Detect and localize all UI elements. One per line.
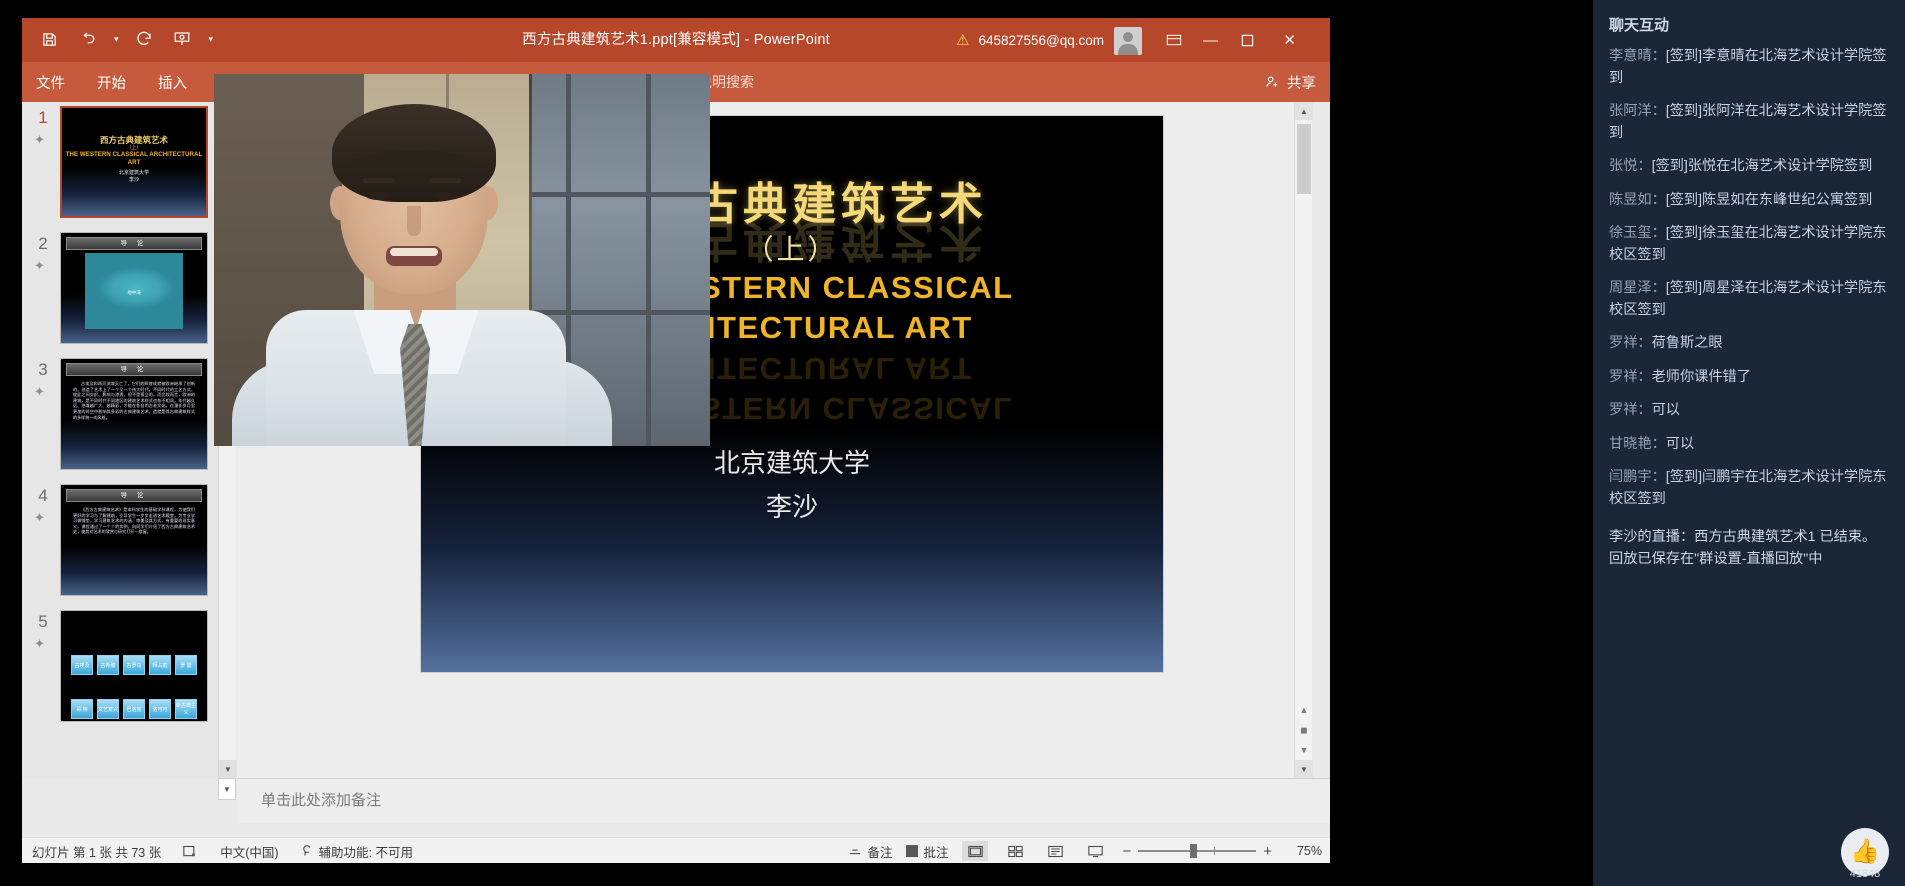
nose	[407, 206, 421, 236]
zoom-knob[interactable]	[1190, 844, 1197, 858]
slide-sorter-icon[interactable]	[1002, 841, 1028, 861]
chat-text: 老师你课件错了	[1652, 369, 1751, 385]
period-button: 古埃及	[71, 655, 93, 675]
zoom-track[interactable]	[1138, 850, 1256, 852]
animation-star-icon: ✦	[34, 132, 45, 148]
spell-check-icon[interactable]	[183, 845, 198, 858]
minimize-icon[interactable]: —	[1203, 18, 1218, 62]
accessibility-status[interactable]: 辅助功能: 不可用	[301, 842, 413, 861]
slide-thumbnail-3[interactable]: 3 ✦ 导 论 古埃及和两河流域灭亡了，它们的辉煌成就被欧洲继承了创新的。创造了…	[26, 354, 218, 480]
chat-username: 闫鹏宇：	[1609, 469, 1666, 485]
notes-pane-collapse-icon[interactable]: ▼	[218, 778, 236, 800]
window-rail	[532, 192, 710, 197]
language-indicator[interactable]: 中文(中国)	[220, 842, 278, 861]
thumb1-author: 北京建筑大学 李沙	[62, 170, 206, 184]
slide-organization: 北京建筑大学	[421, 441, 1163, 485]
teeth	[390, 248, 438, 256]
chat-message: 周星泽：[签到]周星泽在北海艺术设计学院东校区签到	[1609, 278, 1889, 321]
comments-toggle-button[interactable]: 批注	[906, 842, 948, 861]
chat-message: 罗祥：荷鲁斯之眼	[1609, 333, 1889, 355]
thumb3-header: 导 论	[66, 363, 202, 376]
chat-username: 甘晓艳：	[1609, 436, 1666, 452]
scroll-down-icon[interactable]: ▼	[1295, 760, 1313, 778]
thumb2-header: 导 论	[66, 237, 202, 250]
account-email: 645827556@qq.com	[978, 33, 1104, 48]
share-label: 共享	[1287, 72, 1316, 93]
thumb5-button-row-1: 古埃及 古希腊 古罗马 拜占庭 罗 曼	[71, 655, 197, 675]
eye-left	[366, 192, 392, 200]
normal-view-icon[interactable]	[962, 841, 988, 861]
chat-message: 甘晓艳：可以	[1609, 434, 1889, 456]
eye-right	[432, 192, 458, 200]
chat-username: 罗祥：	[1609, 369, 1652, 385]
period-button: 古罗马	[123, 655, 145, 675]
chat-username: 周星泽：	[1609, 280, 1666, 296]
chat-message: 张阿洋：[签到]张阿洋在北海艺术设计学院签到	[1609, 101, 1889, 144]
zoom-center-tick	[1214, 847, 1215, 855]
powerpoint-window: ▾ ▾ 西方古典建筑艺术1.ppt[兼容模式] - PowerPoint ⚠ 6…	[22, 18, 1330, 863]
slide-scrollbar[interactable]: ▲ ▲ ◼ ▼ ▼	[1294, 102, 1312, 778]
account-info[interactable]: ⚠ 645827556@qq.com	[956, 18, 1104, 62]
notes-pane[interactable]: 单击此处添加备注	[237, 778, 1330, 823]
scroll-down-icon[interactable]: ▼	[219, 760, 237, 778]
window-rail	[532, 310, 710, 315]
thumbnail-number: 1	[32, 108, 54, 128]
thumb4-header: 导 论	[66, 489, 202, 502]
chat-panel-title: 聊天互动	[1609, 14, 1889, 35]
period-button: 巴洛克	[123, 699, 145, 719]
slideshow-icon[interactable]	[1082, 841, 1108, 861]
zoom-level[interactable]: 75%	[1286, 844, 1322, 858]
animation-star-icon: ✦	[34, 384, 45, 400]
thumb1-title-en: THE WESTERN CLASSICAL ARCHITECTURAL ART	[62, 151, 206, 167]
chat-text: 荷鲁斯之眼	[1652, 335, 1723, 351]
status-bar: 幻灯片 第 1 张 共 73 张 中文(中国) 辅助功能: 不可用	[22, 837, 1330, 863]
chat-username: 张悦：	[1609, 158, 1652, 174]
tab-insert[interactable]: 插入	[158, 72, 187, 93]
thumbnail-number: 4	[32, 486, 54, 506]
thumb5-button-row-2: 哥 特 文艺复兴 巴洛克 洛可可 新古典主义	[71, 699, 197, 719]
tab-file[interactable]: 文件	[36, 72, 65, 93]
eyebrow-left	[363, 178, 395, 183]
chat-username: 张阿洋：	[1609, 103, 1666, 119]
period-button: 罗 曼	[175, 655, 197, 675]
animation-star-icon: ✦	[34, 636, 45, 652]
animation-star-icon: ✦	[34, 510, 45, 526]
slide-author-block: 北京建筑大学 李沙	[421, 441, 1163, 529]
slide-thumbnail-1[interactable]: 1 ✦ 西方古典建筑艺术 （上） THE WESTERN CLASSICAL A…	[26, 102, 218, 228]
avatar[interactable]	[1114, 27, 1142, 55]
chat-username: 陈昱如：	[1609, 192, 1666, 208]
thumbnail-number: 2	[32, 234, 54, 254]
period-button: 古希腊	[97, 655, 119, 675]
period-button: 洛可可	[149, 699, 171, 719]
previous-slide-icon[interactable]: ▲	[1296, 702, 1312, 718]
chat-text: 可以	[1666, 436, 1694, 452]
slide-author: 李沙	[421, 485, 1163, 529]
thumbnail-number: 5	[32, 612, 54, 632]
thumb1-subtitle: （上）	[62, 144, 206, 151]
status-left-group: 幻灯片 第 1 张 共 73 张 中文(中国) 辅助功能: 不可用	[32, 838, 413, 863]
select-browse-object-icon[interactable]: ◼	[1296, 722, 1312, 738]
ribbon-tabs: 文件 开始 插入 设	[36, 62, 234, 102]
period-button: 拜占庭	[149, 655, 171, 675]
slide-thumbnail-pane[interactable]: 1 ✦ 西方古典建筑艺术 （上） THE WESTERN CLASSICAL A…	[22, 102, 218, 778]
thumbnail-number: 3	[32, 360, 54, 380]
eyebrow-right	[429, 178, 461, 183]
chat-message: 闫鹏宇：[签到]闫鹏宇在北海艺术设计学院东校区签到	[1609, 467, 1889, 510]
thumbnail-preview: 古埃及 古希腊 古罗马 拜占庭 罗 曼 哥 特 文艺复兴 巴洛克 洛可可 新古典…	[60, 610, 208, 722]
presenter-webcam-overlay[interactable]	[214, 74, 710, 446]
chat-username: 徐玉玺：	[1609, 225, 1666, 241]
chat-message: 罗祥：老师你课件错了	[1609, 367, 1889, 389]
like-count: 41848	[1841, 868, 1889, 880]
animation-star-icon: ✦	[34, 258, 45, 274]
chat-message: 徐玉玺：[签到]徐玉玺在北海艺术设计学院东校区签到	[1609, 223, 1889, 266]
screen-root: ▾ ▾ 西方古典建筑艺术1.ppt[兼容模式] - PowerPoint ⚠ 6…	[0, 0, 1905, 886]
chat-username: 李意晴：	[1609, 48, 1666, 64]
thumbnail-preview: 西方古典建筑艺术 （上） THE WESTERN CLASSICAL ARCHI…	[60, 106, 208, 218]
notes-toggle-button[interactable]: 备注	[848, 842, 892, 861]
thumbnail-preview: 导 论 地中海	[60, 232, 208, 344]
chat-system-message: 李沙的直播：西方古典建筑艺术1 已结束。回放已保存在"群设置-直播回放"中	[1609, 526, 1889, 570]
status-right-group: 备注 批注	[848, 838, 1322, 863]
reading-view-icon[interactable]	[1042, 841, 1068, 861]
close-icon[interactable]: ✕	[1283, 18, 1296, 62]
slide-thumbnail-4[interactable]: 4 ✦ 导 论 《西方古典建筑艺术》是本科学生的基础学科课程，为使我们更好的学习…	[26, 480, 218, 606]
chat-message: 李意晴：[签到]李意晴在北海艺术设计学院签到	[1609, 46, 1889, 89]
thumb3-body: 古埃及和两河流域灭亡了，它们的辉煌成就被欧洲继承了创新的。创造了艺术上了一个又一…	[73, 381, 195, 420]
thumb4-body: 《西方古典建筑艺术》是本科学生的基础学科课程，为使我们更好的学习与了解建筑，引导…	[73, 507, 195, 535]
zoom-out-button[interactable]: −	[1122, 843, 1131, 860]
chat-message: 罗祥：可以	[1609, 400, 1889, 422]
thumbs-up-icon: 👍	[1850, 840, 1880, 864]
slide-thumbnail-5[interactable]: 5 ✦ 古埃及 古希腊 古罗马 拜占庭 罗 曼 哥 特 文	[26, 606, 218, 732]
chat-username: 罗祥：	[1609, 402, 1652, 418]
hair	[332, 104, 496, 202]
slide-counter[interactable]: 幻灯片 第 1 张 共 73 张	[32, 842, 161, 861]
title-bar: ▾ ▾ 西方古典建筑艺术1.ppt[兼容模式] - PowerPoint ⚠ 6…	[22, 18, 1330, 62]
share-button[interactable]: 共享	[1264, 62, 1316, 102]
thumbnail-preview: 导 论 《西方古典建筑艺术》是本科学生的基础学科课程，为使我们更好的学习与了解建…	[60, 484, 208, 596]
mediterranean-map-image: 地中海	[85, 253, 183, 329]
chat-message: 陈昱如：[签到]陈昱如在东峰世纪公寓签到	[1609, 190, 1889, 212]
period-button: 文艺复兴	[97, 699, 119, 719]
chat-text: 可以	[1652, 402, 1680, 418]
map-label: 地中海	[127, 290, 141, 296]
notes-placeholder: 单击此处添加备注	[261, 789, 381, 810]
slide-thumbnail-2[interactable]: 2 ✦ 导 论 地中海	[26, 228, 218, 354]
next-slide-icon[interactable]: ▼	[1296, 742, 1312, 758]
warning-icon: ⚠	[956, 33, 969, 48]
period-button: 哥 特	[71, 699, 93, 719]
window-mullion	[646, 74, 651, 446]
zoom-slider[interactable]: − +	[1122, 843, 1272, 860]
zoom-in-button[interactable]: +	[1263, 843, 1272, 860]
chat-message: 张悦：[签到]张悦在北海艺术设计学院签到	[1609, 156, 1889, 178]
chat-text: [签到]陈昱如在东峰世纪公寓签到	[1666, 192, 1873, 208]
thumbnail-preview: 导 论 古埃及和两河流域灭亡了，它们的辉煌成就被欧洲继承了创新的。创造了艺术上了…	[60, 358, 208, 470]
period-button: 新古典主义	[175, 699, 197, 719]
chat-username: 罗祥：	[1609, 335, 1652, 351]
mouth	[386, 246, 442, 266]
chat-panel[interactable]: 聊天互动 李意晴：[签到]李意晴在北海艺术设计学院签到 张阿洋：[签到]张阿洋在…	[1593, 0, 1905, 886]
chat-text: [签到]张悦在北海艺术设计学院签到	[1652, 158, 1873, 174]
scroll-up-icon[interactable]: ▲	[1295, 102, 1313, 120]
comment-icon	[906, 845, 918, 857]
scrollbar-thumb[interactable]	[1297, 124, 1311, 194]
tab-home[interactable]: 开始	[97, 72, 126, 93]
restore-icon[interactable]	[1241, 18, 1254, 62]
ribbon-display-options-icon[interactable]	[1166, 18, 1182, 62]
